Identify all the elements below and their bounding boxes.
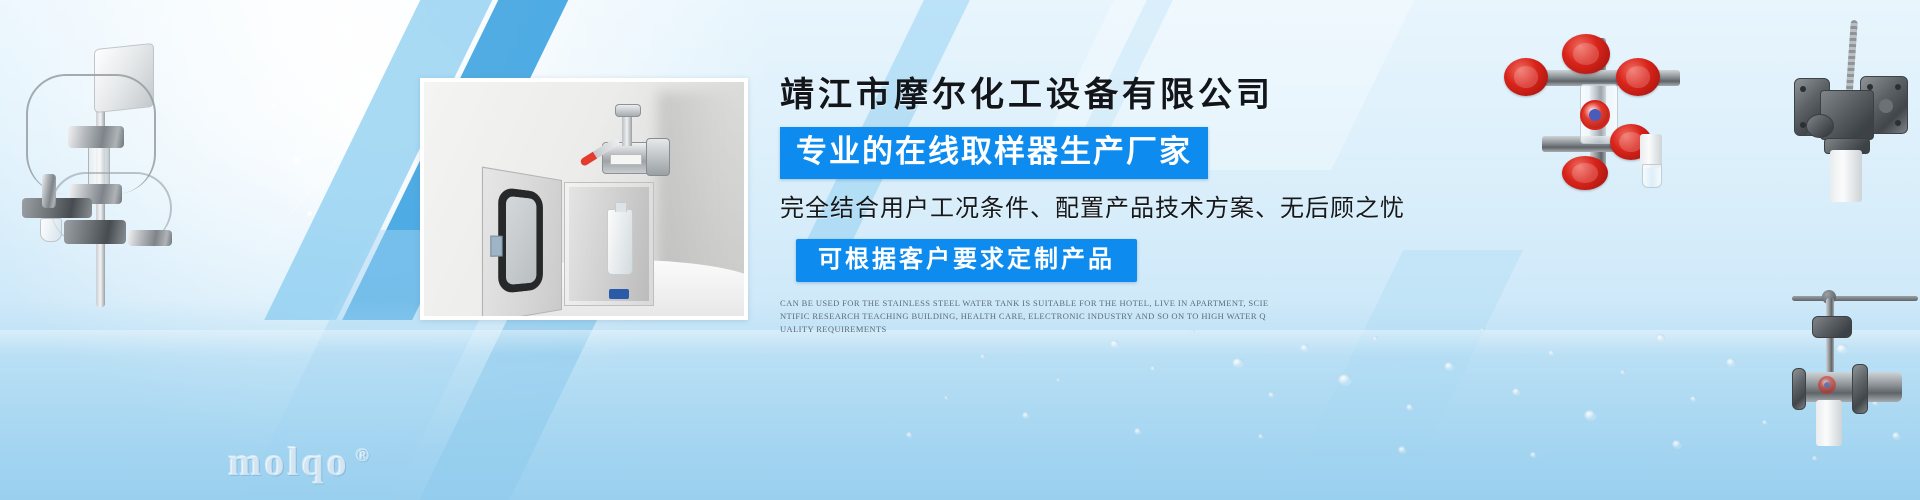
water-droplet: [1300, 344, 1309, 352]
valve-bonnet: [615, 104, 641, 117]
body-seal-logo: [1818, 376, 1836, 394]
right-product-flanged-sampler: [1792, 18, 1920, 203]
watermark-text: molqo: [228, 439, 350, 484]
water-droplet: [1620, 370, 1626, 375]
water-droplet: [1726, 358, 1736, 367]
outlet-tube: [1816, 400, 1842, 446]
center-product-photo: [420, 78, 748, 320]
english-line-2: NTIFIC RESEARCH TEACHING BUILDING, HEALT…: [780, 310, 1390, 323]
valve-body-horizontal: [1792, 372, 1902, 402]
water-droplet: [1762, 420, 1768, 425]
english-description: CAN BE USED FOR THE STAINLESS STEEL WATE…: [780, 297, 1390, 336]
water-droplet: [906, 432, 913, 438]
handwheel-top: [1562, 34, 1610, 74]
handwheel-right: [1616, 58, 1660, 96]
water-droplet: [980, 354, 986, 359]
water-droplet: [1672, 440, 1682, 449]
water-droplet: [1110, 340, 1119, 348]
flange-port: [1792, 368, 1806, 410]
company-seal-logo: [1580, 100, 1610, 130]
valve-stem: [622, 112, 632, 146]
water-droplet: [1338, 374, 1352, 386]
handwheel-bottom: [1562, 156, 1608, 190]
water-droplet: [1530, 452, 1537, 458]
bottle-cap: [609, 289, 629, 299]
valve-stem: [1826, 298, 1834, 382]
water-droplet: [1398, 446, 1407, 454]
sample-jar: [40, 218, 62, 242]
sample-bottle: [607, 209, 633, 275]
side-knob: [1806, 114, 1834, 138]
right-product-cross-valve: [1490, 28, 1720, 188]
company-name: 靖江市摩尔化工设备有限公司: [780, 74, 1400, 118]
valve-flange: [646, 138, 670, 176]
left-product-image: [8, 22, 188, 307]
water-droplet: [1056, 378, 1061, 382]
handwheel-left: [1504, 58, 1548, 96]
water-droplet: [1150, 366, 1156, 371]
promo-banner: 靖江市摩尔化工设备有限公司 专业的在线取样器生产厂家 完全结合用户工况条件、配置…: [0, 0, 1920, 500]
valve-port: [128, 230, 172, 246]
valve-hub: [64, 220, 126, 244]
water-droplet: [1406, 404, 1414, 411]
water-droplet: [1258, 434, 1264, 439]
water-droplet: [1548, 350, 1555, 356]
water-droplet: [1584, 410, 1597, 421]
water-droplet: [1656, 334, 1665, 342]
banner-text-block: 靖江市摩尔化工设备有限公司 专业的在线取样器生产厂家 完全结合用户工况条件、配置…: [780, 74, 1400, 336]
flange-port: [1852, 364, 1868, 414]
water-droplet: [1268, 392, 1275, 398]
water-droplet: [1022, 412, 1030, 419]
english-line-1: CAN BE USED FOR THE STAINLESS STEEL WATE…: [780, 297, 1390, 310]
custom-product-badge: 可根据客户要求定制产品: [796, 239, 1137, 282]
water-droplet: [1444, 362, 1455, 371]
t-handle-bar: [1792, 296, 1918, 301]
valve-manifold: [22, 198, 92, 218]
door-lock-key: [490, 236, 502, 257]
outlet-body: [1640, 134, 1662, 168]
outlet-tube: [1830, 150, 1862, 202]
bonnet-nut: [1812, 316, 1852, 338]
door-window: [498, 187, 543, 294]
sampler-cabinet: [564, 182, 654, 306]
headline-badge: 专业的在线取样器生产厂家: [780, 127, 1208, 179]
english-line-3: UALITY REQUIREMENTS: [780, 323, 1390, 336]
water-droplet: [1690, 396, 1697, 402]
water-droplet: [1512, 388, 1521, 396]
water-droplet: [1372, 336, 1378, 341]
cabinet-door: [482, 166, 562, 320]
water-droplet: [944, 396, 949, 400]
valve-nameplate: [610, 154, 642, 165]
sampler-valve-head: [584, 108, 670, 188]
water-droplet: [1480, 328, 1485, 332]
right-product-t-valve: [1792, 272, 1920, 460]
relief-valve: [42, 174, 56, 208]
valve-hub: [68, 126, 124, 148]
watermark-logo: molqo®: [228, 438, 372, 485]
water-droplet: [1232, 358, 1244, 368]
registered-mark-icon: ®: [356, 445, 372, 465]
water-droplet: [1134, 428, 1142, 435]
collection-bottle: [1642, 164, 1662, 188]
subheadline: 完全结合用户工况条件、配置产品技术方案、无后顾之忧: [780, 192, 1400, 226]
